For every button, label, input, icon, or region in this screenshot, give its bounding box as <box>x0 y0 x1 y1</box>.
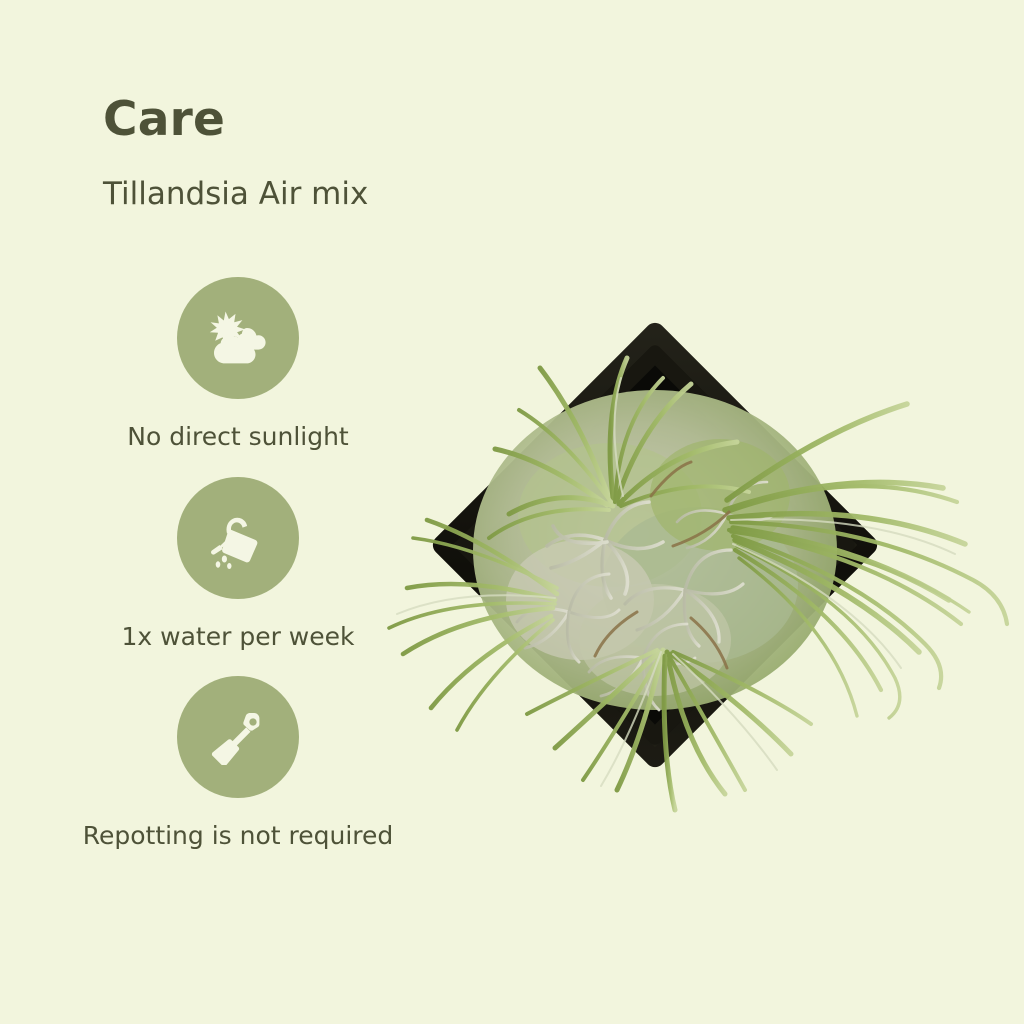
care-icon-badge-sunlight <box>177 277 299 399</box>
care-item-label-sunlight: No direct sunlight <box>73 399 403 454</box>
care-icon-badge-repotting <box>177 676 299 798</box>
watering-can-icon <box>207 507 269 569</box>
page-title: Care <box>103 96 533 143</box>
care-poster: Care Tillandsia Air mix <box>0 0 1024 1024</box>
shovel-icon <box>210 709 266 765</box>
plant-photo: Tillandsia air plant mix in a black squa… <box>355 300 1015 900</box>
page-subtitle: Tillandsia Air mix <box>103 143 533 210</box>
care-icon-badge-water <box>177 477 299 599</box>
sun-behind-cloud-icon <box>205 310 271 366</box>
plant-photo-caption: Tillandsia air plant mix in a black squa… <box>355 900 356 901</box>
poster-header: Care Tillandsia Air mix <box>103 96 533 210</box>
care-item-label-water: 1x water per week <box>73 599 403 654</box>
care-item-label-repotting: Repotting is not required <box>73 798 403 853</box>
